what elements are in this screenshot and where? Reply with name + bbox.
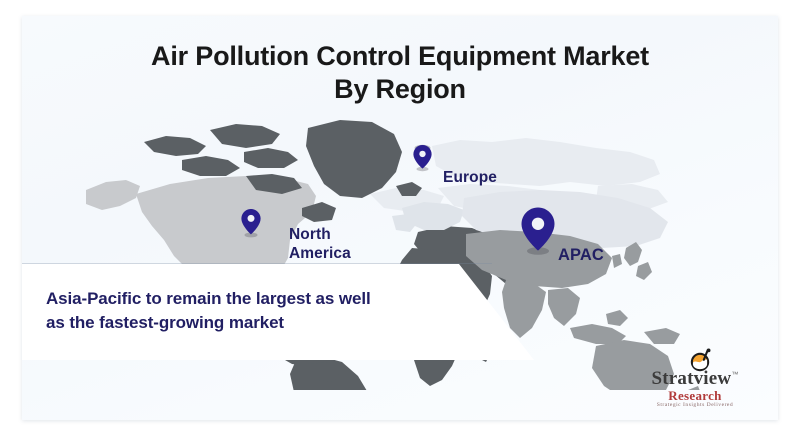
logo-brand: Stratview™ <box>630 368 760 390</box>
caption-line-1: Asia-Pacific to remain the largest as we… <box>46 287 446 311</box>
map-pin-apac[interactable] <box>519 206 557 256</box>
map-pin-icon <box>412 143 433 172</box>
region-label-apac: APAC <box>558 246 604 265</box>
region-label-europe: Europe <box>443 168 497 187</box>
map-pin-icon <box>519 206 557 256</box>
caption-text: Asia-Pacific to remain the largest as we… <box>46 287 446 335</box>
region-label-north-america: North America <box>289 225 375 263</box>
title-line-1: Air Pollution Control Equipment Market <box>22 40 778 73</box>
infographic-stage: Air Pollution Control Equipment Market B… <box>0 0 800 448</box>
trademark-symbol: ™ <box>731 372 738 379</box>
logo-tagline: Strategic Insights Delivered <box>630 402 760 408</box>
caption-line-2: as the fastest-growing market <box>46 311 446 335</box>
caption-banner: Asia-Pacific to remain the largest as we… <box>22 264 534 360</box>
region-label-line-2: America <box>289 245 351 262</box>
map-pin-icon <box>240 208 262 238</box>
company-logo: Stratview™ Research Strategic Insights D… <box>630 348 760 410</box>
infographic-panel: Air Pollution Control Equipment Market B… <box>22 16 778 420</box>
logo-brand-text: Stratview <box>651 368 731 389</box>
page-title: Air Pollution Control Equipment Market B… <box>22 40 778 106</box>
title-line-2: By Region <box>22 73 778 106</box>
map-pin-north-america[interactable] <box>240 208 262 238</box>
region-label-line-1: North <box>289 226 331 243</box>
map-pin-europe[interactable] <box>412 143 433 172</box>
